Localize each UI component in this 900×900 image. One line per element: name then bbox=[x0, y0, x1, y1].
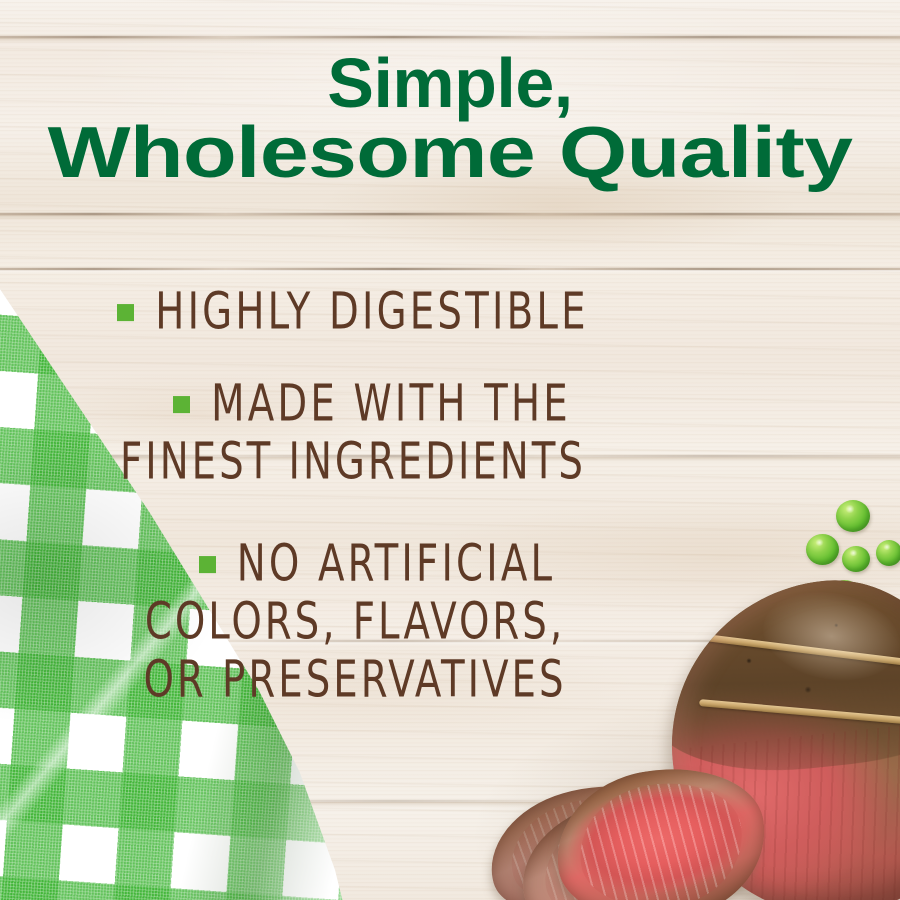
pea-icon bbox=[842, 546, 870, 572]
bullet-square-icon bbox=[173, 395, 190, 412]
headline-line-2: Wholesome Quality bbox=[0, 118, 900, 188]
list-item-label: NO ARTIFICIAL bbox=[237, 533, 556, 594]
pea-icon bbox=[828, 580, 861, 611]
pea-icon bbox=[806, 534, 839, 565]
headline-line-1: Simple, bbox=[0, 48, 900, 118]
bullet-square-icon bbox=[117, 303, 134, 320]
bullet-square-icon bbox=[199, 555, 216, 572]
pea-icon bbox=[836, 500, 870, 532]
list-item-label-continued: FINEST INGREDIENTS bbox=[120, 431, 586, 492]
list-item-label-continued: OR PRESERVATIVES bbox=[143, 649, 566, 710]
list-item-label: MADE WITH THE bbox=[211, 373, 571, 434]
list-item: NO ARTIFICIAL COLORS, FLAVORS, OR PRESER… bbox=[0, 538, 700, 706]
meat-shadow bbox=[470, 700, 900, 900]
benefits-list: HIGHLY DIGESTIBLE MADE WITH THE FINEST I… bbox=[0, 286, 700, 728]
list-item-label-continued: COLORS, FLAVORS, bbox=[145, 591, 565, 652]
list-item-label: HIGHLY DIGESTIBLE bbox=[155, 281, 588, 342]
pea-icon bbox=[876, 540, 900, 566]
list-item: HIGHLY DIGESTIBLE bbox=[0, 286, 700, 338]
pea-icon bbox=[793, 616, 818, 640]
page-title: Simple, Wholesome Quality bbox=[0, 48, 900, 188]
promo-banner: Simple, Wholesome Quality HIGHLY DIGESTI… bbox=[0, 0, 900, 900]
list-item: MADE WITH THE FINEST INGREDIENTS bbox=[0, 378, 700, 488]
